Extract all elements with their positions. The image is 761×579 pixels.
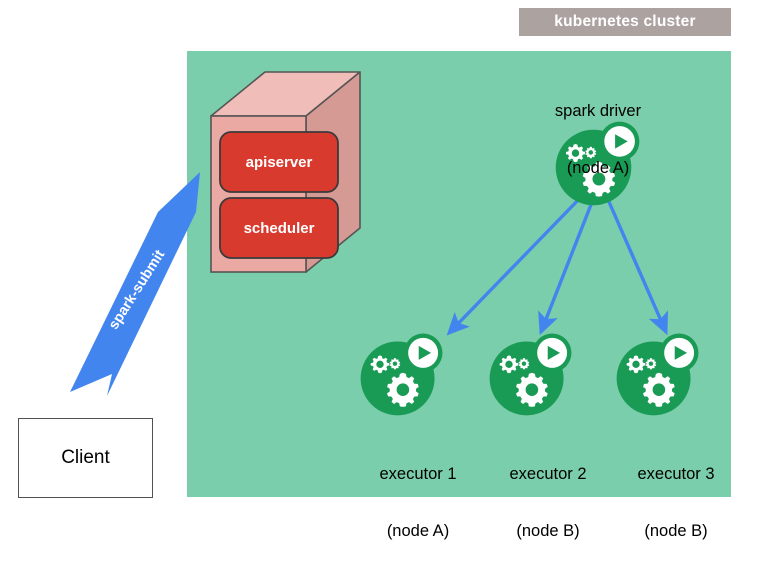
executor-3-name: executor 3 — [606, 465, 746, 484]
gears-play-icon — [617, 334, 699, 416]
apiserver-label: apiserver — [220, 132, 338, 192]
client-label: Client — [61, 447, 110, 469]
executor-2-icon-group[interactable] — [490, 334, 572, 416]
spark-submit-arrow — [70, 172, 200, 396]
executor-1-icon-group[interactable] — [361, 334, 443, 416]
executor-2-name: executor 2 — [478, 465, 618, 484]
scheduler-label: scheduler — [220, 198, 338, 258]
client-box[interactable]: Client — [18, 418, 153, 498]
executor-2-node: (node B) — [478, 522, 618, 541]
executor-1-name: executor 1 — [348, 465, 488, 484]
spark-driver-label: spark driver (node A) — [512, 64, 684, 216]
spark-driver-name: spark driver — [512, 102, 684, 121]
executor-3-label: executor 3 (node B) — [606, 427, 746, 579]
executor-1-node: (node A) — [348, 522, 488, 541]
executor-3-icon-group[interactable] — [617, 334, 699, 416]
gears-play-icon — [490, 334, 572, 416]
executor-3-node: (node B) — [606, 522, 746, 541]
executor-2-label: executor 2 (node B) — [478, 427, 618, 579]
executor-1-label: executor 1 (node A) — [348, 427, 488, 579]
gears-play-icon — [361, 334, 443, 416]
connection-driver-executor-2 — [541, 197, 594, 332]
diagram-canvas: kubernetes cluster — [0, 0, 761, 516]
spark-driver-node: (node A) — [512, 159, 684, 178]
